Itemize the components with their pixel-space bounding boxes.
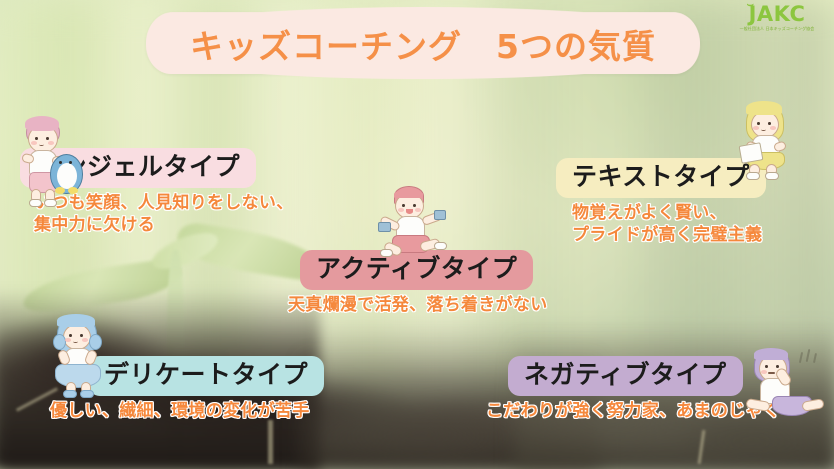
page-title: キッズコーチング 5つの気質 <box>146 15 700 73</box>
type-description-active: 天真爛漫で活発、落ち着きがない <box>288 295 548 316</box>
type-description-delicate: 優しい、繊細、環境の変化が苦手 <box>50 401 324 422</box>
type-description-text: 物覚えがよく賢い、 プライドが高く完璧主義 <box>572 203 766 246</box>
type-block-text: テキストタイプ 物覚えがよく賢い、 プライドが高く完璧主義 <box>556 158 766 246</box>
logo-tick-icon: ⌣ <box>747 0 755 10</box>
logo-word-text: JAKC <box>749 2 806 26</box>
slide-canvas: ⌣JAKC 一般社団法人 日本キッズコーチング協会 キッズコーチング 5つの気質… <box>0 0 834 469</box>
twig-2 <box>268 420 273 464</box>
type-label-negative[interactable]: ネガティブタイプ <box>508 356 743 396</box>
type-label-delicate[interactable]: デリケートタイプ <box>88 356 324 396</box>
character-text-icon <box>736 100 798 178</box>
character-active-icon <box>378 186 444 258</box>
logo-subtitle: 一般社団法人 日本キッズコーチング協会 <box>731 27 822 31</box>
character-angel-icon <box>12 116 86 208</box>
logo-wordmark: ⌣JAKC <box>749 4 806 25</box>
jakc-logo: ⌣JAKC 一般社団法人 日本キッズコーチング協会 <box>729 4 825 31</box>
book-icon <box>739 142 764 164</box>
character-delicate-icon <box>48 312 110 398</box>
type-block-active: アクティブタイプ 天真爛漫で活発、落ち着きがない <box>300 250 548 317</box>
type-label-text[interactable]: テキストタイプ <box>556 158 766 198</box>
type-description-negative: こだわりが強く努力家、あまのじゃく <box>486 401 780 422</box>
character-negative-icon <box>748 346 818 418</box>
type-block-delicate: デリケートタイプ 優しい、繊細、環境の変化が苦手 <box>88 356 324 423</box>
type-block-negative: ネガティブタイプ こだわりが強く努力家、あまのじゃく <box>508 356 780 423</box>
